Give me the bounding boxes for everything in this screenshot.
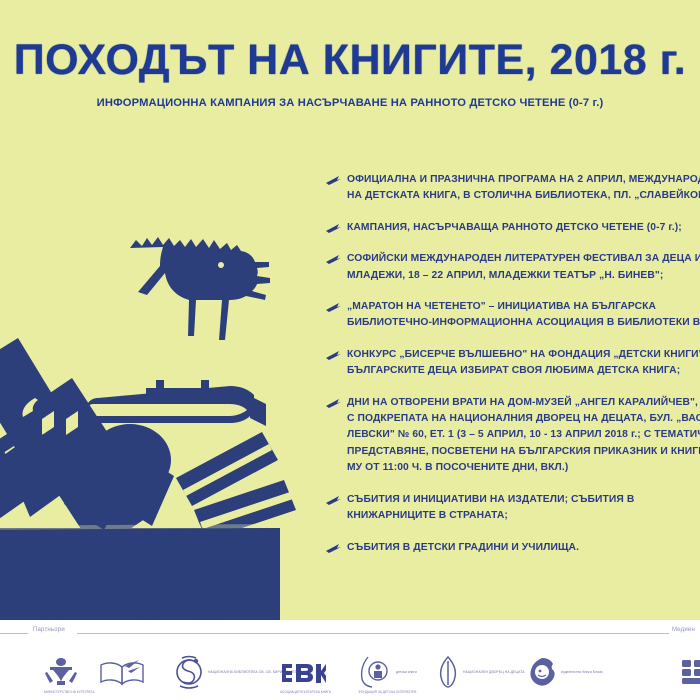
partners-footer: Партньори Медиен [0,620,700,700]
list-item-line: КОНКУРС „БИСЕРЧЕ ВЪЛШЕБНО" НА ФОНДАЦИЯ „… [347,347,700,363]
partner-logo-caption: ФОНДАЦИЯ ЗА ДЕТСКА ЛИТЕРАТУРА [358,690,417,694]
list-item-line: МЛАДЕЖИ, 18 – 22 АПРИЛ, МЛАДЕЖКИ ТЕАТЪР … [347,268,700,284]
list-item-line: КНИЖАРНИЦИТЕ В СТРАНАТА; [347,508,700,524]
crest-icon [44,656,78,688]
list-item-line: „МАРАТОН НА ЧЕТЕНЕТО" – ИНИЦИАТИВА НА БЪ… [347,299,700,315]
list-item-line: ПРЕДСТАВЯНЕ, ПОСВЕТЕНИ НА БЪЛГАРСКИЯ ПРИ… [347,444,700,460]
list-item-line: ОФИЦИАЛНА И ПРАЗНИЧНА ПРОГРАМА НА 2 АПРИ… [347,172,700,188]
list-item-line: НА ДЕТСКАТА КНИГА, В СТОЛИЧНА БИБЛИОТЕКА… [347,188,700,204]
partner-logo-media[interactable] [678,648,700,696]
list-item: СЪБИТИЯ И ИНИЦИАТИВИ НА ИЗДАТЕЛИ; СЪБИТИ… [326,492,700,525]
list-item-line: ЛЕВСКИ" № 60, ЕТ. 1 (3 – 5 АПРИЛ, 10 - 1… [347,427,700,443]
list-item-line: БЪЛГАРСКИТЕ ДЕЦА ИЗБИРАТ СВОЯ ЛЮБИМА ДЕТ… [347,363,700,379]
stacked-mark-icon [678,657,700,687]
poster-canvas: ПОХОДЪТ НА КНИГИТЕ, 2018 г. ИНФОРМАЦИОНН… [0,0,700,700]
list-item-line: СОФИЙСКИ МЕЖДУНАРОДЕН ЛИТЕРАТУРЕН ФЕСТИВ… [347,251,700,267]
partner-logo-open-book[interactable] [98,648,146,696]
page-title: ПОХОДЪТ НА КНИГИТЕ, 2018 г. [0,36,700,84]
partners-label: Партньори [33,627,65,633]
arrow-bullet-icon [326,176,341,185]
divider [0,633,28,634]
arrow-bullet-icon [326,255,341,264]
arrow-bullet-icon [326,544,341,553]
list-item: „МАРАТОН НА ЧЕТЕНЕТО" – ИНИЦИАТИВА НА БЪ… [326,299,700,332]
partner-logo-text: детски книги [396,670,417,675]
list-item: ДНИ НА ОТВОРЕНИ ВРАТИ НА ДОМ-МУЗЕЙ „АНГЕ… [326,395,700,477]
list-item: СЪБИТИЯ В ДЕТСКИ ГРАДИНИ И УЧИЛИЩА. [326,540,700,556]
partner-logo-publisher[interactable]: издателство Книги Елиас [527,648,603,696]
list-item: КОНКУРС „БИСЕРЧЕ ВЪЛШЕБНО" НА ФОНДАЦИЯ „… [326,347,700,380]
child-reading-icon [358,655,392,689]
list-item: СОФИЙСКИ МЕЖДУНАРОДЕН ЛИТЕРАТУРЕН ФЕСТИВ… [326,251,700,284]
list-item-line: С ПОДКРЕПАТА НА НАЦИОНАЛНИЯ ДВОРЕЦ НА ДЕ… [347,411,700,427]
arrow-bullet-icon [326,399,341,408]
list-item-line: МУ ОТ 11:00 Ч. В ПОСОЧЕНИТЕ ДНИ, ВКЛ.) [347,460,700,476]
page-subtitle: ИНФОРМАЦИОННА КАМПАНИЯ ЗА НАСЪРЧАВАНЕ НА… [0,97,700,109]
list-item-line: СЪБИТИЯ И ИНИЦИАТИВИ НА ИЗДАТЕЛИ; СЪБИТИ… [347,492,700,508]
media-partners-label: Медиен [672,627,695,633]
poster-header: ПОХОДЪТ НА КНИГИТЕ, 2018 г. ИНФОРМАЦИОНН… [0,36,700,109]
partner-logo-abk[interactable]: АСОЦИАЦИЯ БЪЛГАРСКА КНИГА [280,648,326,696]
abk-letters-icon [280,657,326,687]
list-item: КАМПАНИЯ, НАСЪРЧАВАЩА РАННОТО ДЕТСКО ЧЕТ… [326,220,700,236]
list-item: ОФИЦИАЛНА И ПРАЗНИЧНА ПРОГРАМА НА 2 АПРИ… [326,172,700,205]
partner-logo-text: издателство Книги Елиас [561,670,603,675]
arrow-bullet-icon [326,303,341,312]
list-item-line: СЪБИТИЯ В ДЕТСКИ ГРАДИНИ И УЧИЛИЩА. [347,540,700,556]
open-book-icon [98,657,146,687]
divider [643,633,669,634]
partner-logo-text: НАЦИОНАЛЕН ДВОРЕЦ НА ДЕЦАТА [463,670,525,675]
partner-logo-row: МИНИСТЕРСТВО НА КУЛТУРАТА [0,648,700,696]
partner-logo-childrens-books[interactable]: детски книги ФОНДАЦИЯ ЗА ДЕТСКА ЛИТЕРАТУ… [358,648,417,696]
arrow-bullet-icon [326,351,341,360]
partner-logo-caption: АСОЦИАЦИЯ БЪЛГАРСКА КНИГА [280,690,326,694]
partner-logo-palace-children[interactable]: НАЦИОНАЛЕН ДВОРЕЦ НА ДЕЦАТА [437,648,525,696]
program-bullet-list: ОФИЦИАЛНА И ПРАЗНИЧНА ПРОГРАМА НА 2 АПРИ… [326,172,700,617]
face-circle-icon [527,657,557,687]
dinosaur-on-book-cart-illustration [0,130,310,620]
list-item-line: ДНИ НА ОТВОРЕНИ ВРАТИ НА ДОМ-МУЗЕЙ „АНГЕ… [347,395,700,411]
footer-label-row: Партньори Медиен [0,620,700,642]
monogram-icon [174,655,204,689]
divider [77,633,643,634]
arrow-bullet-icon [326,496,341,505]
partner-logo-ministry[interactable]: МИНИСТЕРСТВО НА КУЛТУРАТА [44,648,78,696]
list-item-line: БИБЛИОТЕЧНО-ИНФОРМАЦИОННА АСОЦИАЦИЯ В БИ… [347,315,700,331]
list-item-line: КАМПАНИЯ, НАСЪРЧАВАЩА РАННОТО ДЕТСКО ЧЕТ… [347,220,700,236]
partner-logo-caption: МИНИСТЕРСТВО НА КУЛТУРАТА [44,690,78,694]
arrow-bullet-icon [326,224,341,233]
leaf-icon [437,655,459,689]
